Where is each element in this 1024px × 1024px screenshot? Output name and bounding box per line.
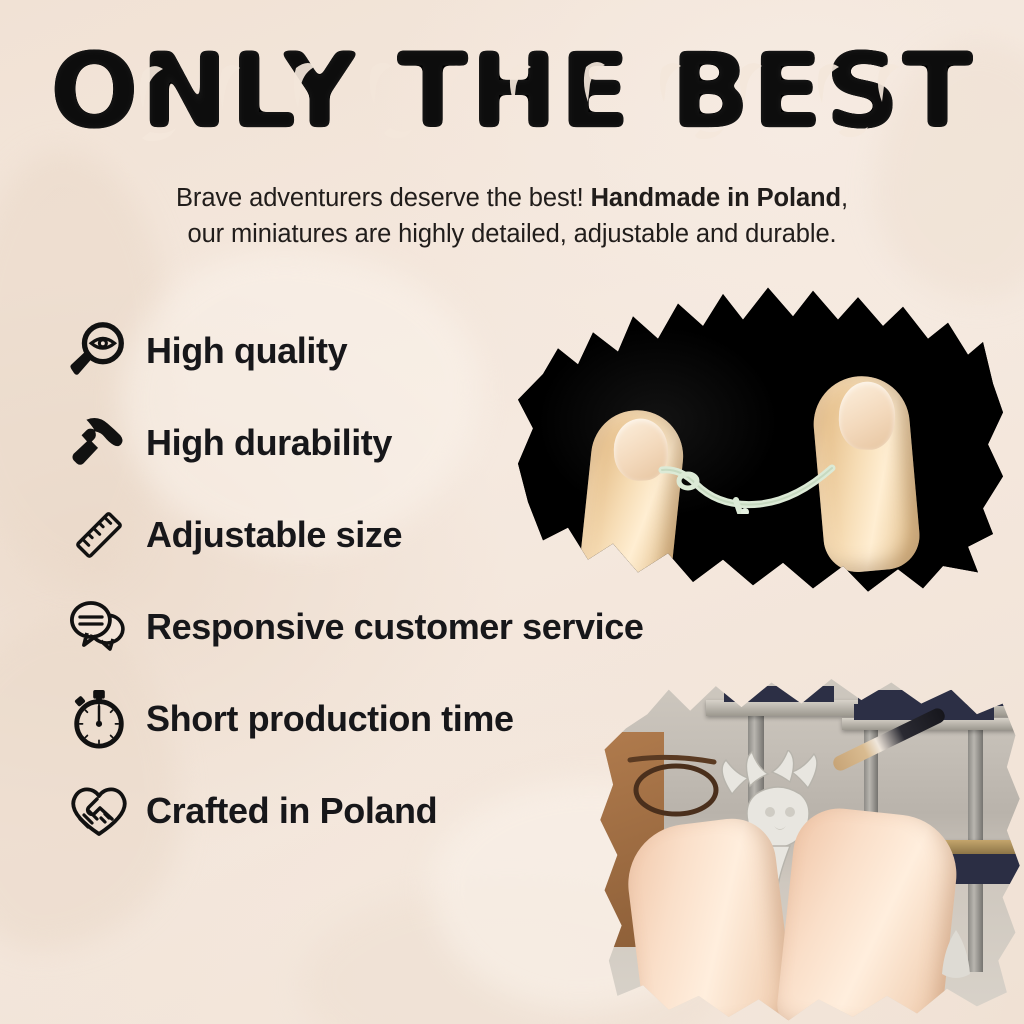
feature-label: High quality <box>146 330 347 372</box>
subtitle-line-2: our miniatures are highly detailed, adju… <box>187 220 836 248</box>
subtitle: Brave adventurers deserve the best! Hand… <box>62 180 962 252</box>
subtitle-text-after: , <box>841 184 848 212</box>
handshake-heart-icon <box>62 774 136 848</box>
speech-bubbles-icon <box>62 590 136 664</box>
small-miniature <box>926 924 986 1002</box>
magnifier-eye-icon <box>62 314 136 388</box>
subtitle-strong: Handmade in Poland <box>591 184 841 212</box>
flexible-miniature-part <box>658 456 836 514</box>
feature-label: High durability <box>146 422 392 464</box>
feature-label: Adjustable size <box>146 514 402 556</box>
bendable-miniature-photo <box>508 278 1008 598</box>
ruler-icon <box>62 498 136 572</box>
subtitle-text-before: Brave adventurers deserve the best! <box>176 184 591 212</box>
fingernail <box>838 381 896 451</box>
feature-label: Short production time <box>146 698 514 740</box>
page-title: ONLY THE BEST <box>0 28 1024 158</box>
stopwatch-icon <box>62 682 136 756</box>
painting-workshop-photo <box>596 672 1024 1024</box>
miniature-tray <box>724 686 834 702</box>
infographic-canvas: ONLY THE BEST <box>0 0 1024 1024</box>
hammer-icon <box>62 406 136 480</box>
feature-label: Crafted in Poland <box>146 790 437 832</box>
hand-left <box>621 814 796 1024</box>
feature-label: Responsive customer service <box>146 606 643 648</box>
subtitle-line-1: Brave adventurers deserve the best! Hand… <box>176 184 848 212</box>
